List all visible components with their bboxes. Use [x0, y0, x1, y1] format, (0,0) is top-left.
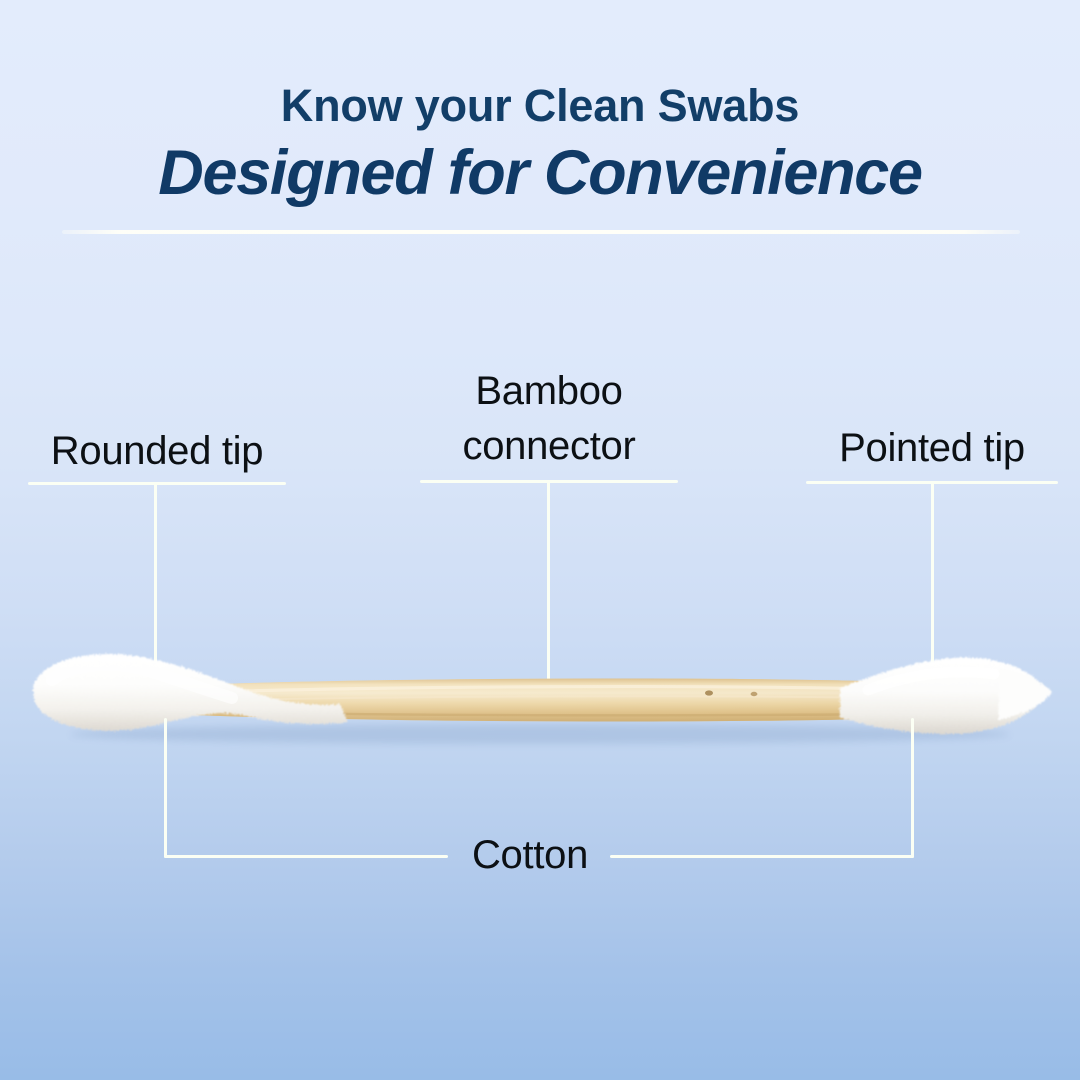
swab-shadow — [70, 724, 1010, 744]
product-image-cotton-swab — [0, 630, 1080, 780]
bracket-bar-left — [164, 855, 448, 858]
header-block: Know your Clean Swabs Designed for Conve… — [0, 0, 1080, 207]
header-divider — [62, 230, 1020, 234]
callout-label-rounded-tip: Rounded tip — [28, 424, 286, 479]
bracket-stem-left — [164, 718, 167, 858]
callout-label-cotton: Cotton — [430, 829, 630, 881]
bracket-bar-right — [610, 855, 914, 858]
page-eyebrow: Know your Clean Swabs — [0, 0, 1080, 131]
callout-underline-rounded-tip — [28, 482, 286, 485]
callout-label-bamboo-connector: Bamboo connector — [420, 364, 678, 474]
bracket-stem-right — [911, 718, 914, 858]
callout-label-pointed-tip: Pointed tip — [806, 421, 1058, 476]
page-title: Designed for Convenience — [0, 131, 1080, 207]
infographic-canvas: Know your Clean Swabs Designed for Conve… — [0, 0, 1080, 1080]
